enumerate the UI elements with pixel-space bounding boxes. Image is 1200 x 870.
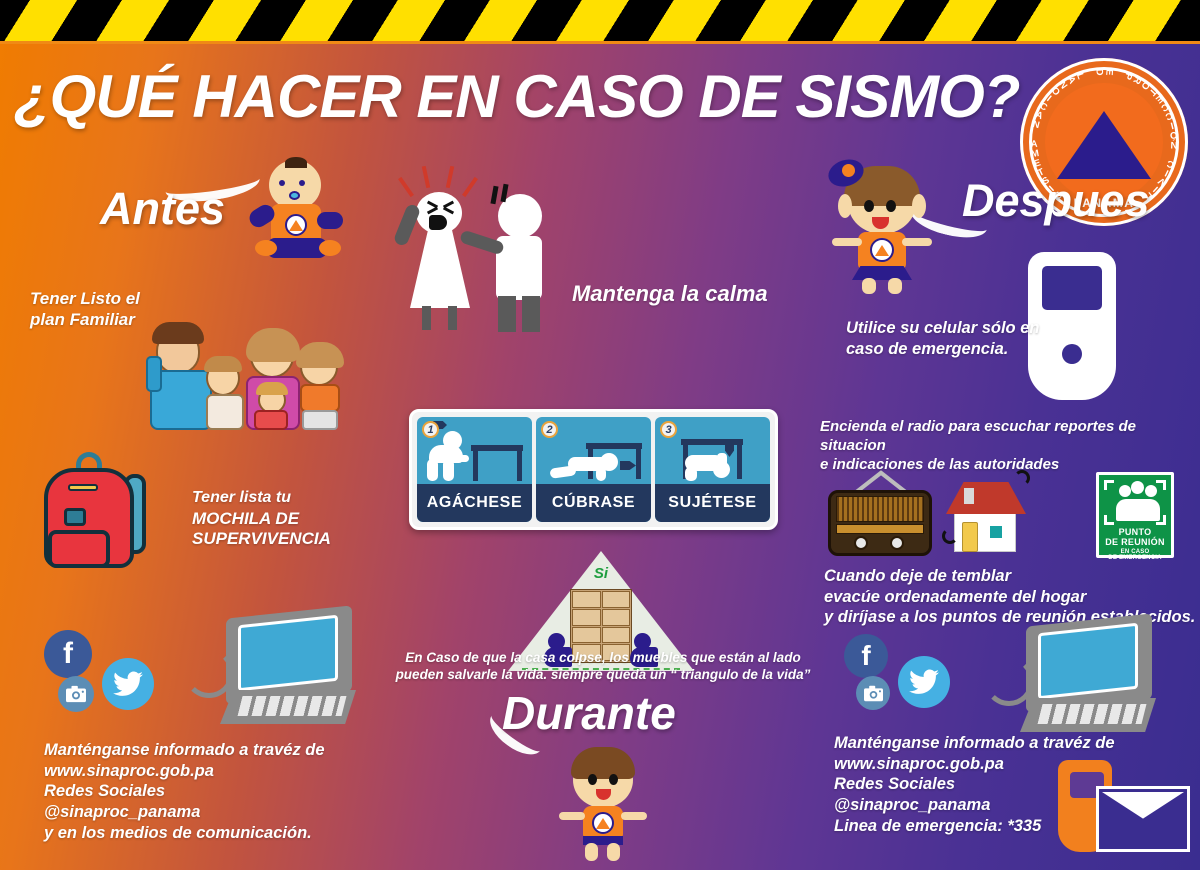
sujetese-person-leg bbox=[685, 467, 697, 481]
backpack-label-line2: MOCHILA DE bbox=[192, 508, 299, 529]
instagram-camera-glyph-right bbox=[864, 685, 883, 702]
survival-backpack-icon bbox=[38, 452, 160, 570]
panic-ray-4 bbox=[462, 177, 478, 197]
calm-man-exclaim-1 bbox=[490, 186, 498, 205]
step-cell-cubrase: 2 CÚBRASE bbox=[536, 417, 651, 522]
cubrase-table-top bbox=[586, 443, 642, 449]
computer-icon-right bbox=[978, 620, 1156, 738]
computer-keys-left bbox=[238, 696, 347, 716]
backpack-zipper bbox=[68, 484, 98, 491]
family-girl-shirt bbox=[300, 384, 340, 412]
infographic-poster: ¿QUÉ HACER EN CASO DE SISMO? SISTEMA NAC… bbox=[0, 0, 1200, 870]
family-toddler-hair bbox=[256, 382, 288, 395]
twitter-icon-right[interactable] bbox=[898, 656, 950, 708]
computer-screen-right bbox=[1038, 623, 1138, 700]
boy-eye-left bbox=[588, 774, 597, 785]
computer-screen-left bbox=[238, 615, 338, 692]
computer-cable-left bbox=[184, 648, 234, 698]
sign-person-head-3 bbox=[1145, 485, 1157, 497]
social-block-right: Manténganse informado a travéz de www.si… bbox=[834, 733, 1115, 836]
boy-leg-right bbox=[607, 843, 620, 861]
instagram-camera-glyph bbox=[66, 685, 86, 703]
baby-eye-left bbox=[279, 180, 285, 186]
family-plan-note: Tener Listo el plan Familiar bbox=[30, 288, 140, 331]
social-block-left: Manténganse informado a travéz de www.si… bbox=[44, 740, 325, 843]
meeting-point-sign: PUNTO DE REUNIÓN EN CASO DE EMERGENCIA bbox=[1096, 472, 1174, 558]
boy-hair bbox=[571, 747, 635, 779]
sign-person-head-1 bbox=[1119, 485, 1131, 497]
computer-keys-right bbox=[1038, 704, 1147, 724]
step-cell-agachese: 1 AGÁCHESE bbox=[417, 417, 532, 522]
girl-ear-right bbox=[912, 194, 926, 218]
house-icon bbox=[940, 470, 1036, 558]
step-cell-sujetese: 3 SUJÉTESE bbox=[655, 417, 770, 522]
house-signal-wave-top bbox=[1014, 470, 1030, 486]
sign-text-block: PUNTO DE REUNIÓN EN CASO DE EMERGENCIA bbox=[1099, 527, 1171, 561]
sign-line-4: DE EMERGENCIA bbox=[1099, 555, 1171, 561]
calm-man-leg-right bbox=[522, 296, 540, 332]
girl-leg-left bbox=[862, 278, 876, 294]
agachese-person-leg-right bbox=[443, 459, 454, 481]
facebook-glyph-right: f bbox=[861, 640, 870, 672]
radio-note: Encienda el radio para escuchar reportes… bbox=[820, 418, 1200, 474]
girl-leg-right bbox=[888, 278, 902, 294]
sujetese-table-leg-right bbox=[737, 445, 742, 479]
agachese-person-leg-left bbox=[427, 459, 438, 481]
calm-man-leg-left bbox=[498, 296, 516, 332]
family-toddler-shirt bbox=[254, 410, 288, 430]
cubrase-table-leg-right bbox=[636, 449, 641, 479]
backpack-buckle bbox=[64, 508, 86, 526]
sign-people-bodies bbox=[1116, 499, 1160, 521]
baby-eye-right bbox=[299, 180, 305, 186]
twitter-bird-glyph-right bbox=[909, 669, 939, 695]
step-number-3: 3 bbox=[660, 421, 677, 438]
instagram-icon-right[interactable] bbox=[856, 676, 890, 710]
computer-cable-right bbox=[984, 656, 1034, 706]
cellphone-keypad-button bbox=[1062, 344, 1082, 364]
sign-corner-arrow-bl bbox=[1104, 515, 1114, 525]
section-heading-durante: Durante bbox=[502, 686, 676, 740]
calm-man-reassuring-arm bbox=[459, 230, 505, 256]
panic-woman-arm bbox=[393, 203, 422, 247]
girl-bow-center bbox=[842, 164, 855, 177]
backpack-front-pocket bbox=[48, 530, 110, 568]
panic-ray-1 bbox=[398, 177, 414, 197]
cellphone-note: Utilice su celular sólo en caso de emerg… bbox=[846, 318, 1039, 359]
baby-pacifier-icon bbox=[289, 191, 300, 200]
family-girl-pants bbox=[302, 410, 338, 430]
girl-skirt bbox=[852, 266, 912, 280]
sign-line-1: PUNTO bbox=[1099, 527, 1171, 537]
house-window bbox=[988, 524, 1004, 540]
keep-calm-figures bbox=[400, 168, 570, 328]
radio-tuning-dial bbox=[836, 524, 924, 534]
keep-calm-note: Mantenga la calma bbox=[572, 280, 768, 308]
cubrase-arrow-icon bbox=[620, 461, 636, 470]
step-number-1: 1 bbox=[422, 421, 439, 438]
sujetese-person-arm bbox=[717, 453, 727, 469]
house-signal-wave-bottom bbox=[942, 528, 958, 544]
girl-ear-left bbox=[838, 194, 852, 218]
radio-speaker-grille bbox=[836, 496, 924, 522]
agachese-table-leg-right bbox=[517, 451, 522, 481]
house-door bbox=[962, 522, 978, 552]
baby-hair-curl bbox=[285, 157, 307, 168]
house-roof bbox=[946, 482, 1026, 514]
girl-mascot bbox=[822, 160, 944, 295]
sign-person-head-2 bbox=[1131, 481, 1144, 494]
baby-shirt-emblem-icon bbox=[285, 214, 307, 236]
sign-corner-arrow-tr bbox=[1156, 480, 1166, 490]
agachese-table-top bbox=[471, 445, 523, 451]
girl-arm-left bbox=[832, 238, 862, 246]
baby-arm-right bbox=[317, 212, 343, 229]
section-heading-despues: Despues bbox=[962, 175, 1150, 227]
girl-eye-left bbox=[864, 200, 874, 212]
hazard-stripe-bar bbox=[0, 0, 1200, 44]
baby-foot-left bbox=[255, 240, 277, 256]
baby-mascot bbox=[243, 160, 348, 260]
baby-foot-right bbox=[319, 240, 341, 256]
cubrase-person-legs bbox=[549, 465, 576, 479]
backpack-label-line1: Tener lista tu bbox=[192, 488, 291, 508]
family-boy-shirt bbox=[206, 394, 244, 430]
backpack-label-line3: SUPERVIVENCIA bbox=[192, 528, 331, 549]
sign-line-2: DE REUNIÓN bbox=[1099, 537, 1171, 547]
panic-ray-2 bbox=[422, 166, 430, 188]
radio-icon bbox=[828, 468, 932, 556]
panic-ray-3 bbox=[446, 166, 454, 188]
girl-eye-right bbox=[886, 200, 896, 212]
family-dad-hair bbox=[152, 322, 204, 344]
section-heading-antes: Antes bbox=[100, 183, 225, 235]
boy-shirt-emblem-icon bbox=[592, 812, 614, 834]
cubrase-person-arm bbox=[596, 467, 606, 481]
step-label-agachese: AGÁCHESE bbox=[417, 484, 532, 522]
boy-mascot bbox=[551, 748, 655, 858]
twitter-bird-glyph bbox=[113, 671, 143, 697]
drop-cover-hold-panel: 1 AGÁCHESE 2 bbox=[409, 409, 778, 530]
family-boy-hair bbox=[204, 356, 242, 372]
boy-leg-left bbox=[585, 843, 598, 861]
triangle-si-badge: Si bbox=[508, 565, 694, 582]
girl-arm-right bbox=[902, 238, 932, 246]
boy-eye-right bbox=[609, 774, 618, 785]
family-mom-hair bbox=[246, 328, 300, 362]
panic-woman-leg-left bbox=[422, 306, 431, 330]
radio-knob-right bbox=[890, 536, 904, 550]
house-chimney bbox=[964, 488, 974, 504]
family-illustration bbox=[150, 320, 365, 430]
sign-corner-arrow-tl bbox=[1104, 480, 1114, 490]
cellphone-icon bbox=[1028, 252, 1116, 400]
computer-icon-left bbox=[178, 612, 356, 730]
girl-shirt-emblem-icon bbox=[870, 238, 894, 262]
panic-woman-leg-right bbox=[448, 306, 457, 330]
radio-knob-left bbox=[854, 536, 868, 550]
family-dad-phone-arm bbox=[146, 356, 162, 392]
facebook-icon-left[interactable]: f bbox=[44, 630, 92, 678]
facebook-glyph: f bbox=[63, 637, 73, 671]
instagram-icon-left[interactable] bbox=[58, 676, 94, 712]
family-girl-hair bbox=[296, 342, 344, 368]
twitter-icon-left[interactable] bbox=[102, 658, 154, 710]
boy-arm-right bbox=[621, 812, 647, 820]
step-number-2: 2 bbox=[541, 421, 558, 438]
cellphone-screen bbox=[1042, 266, 1102, 310]
step-label-cubrase: CÚBRASE bbox=[536, 484, 651, 522]
step-label-sujetese: SUJÉTESE bbox=[655, 484, 770, 522]
triangle-of-life-caption: En Caso de que la casa colpse, los muebl… bbox=[388, 650, 818, 684]
page-title: ¿QUÉ HACER EN CASO DE SISMO? bbox=[14, 62, 1019, 131]
agachese-table-leg-left bbox=[473, 451, 478, 481]
agachese-person-arm bbox=[453, 455, 469, 462]
panic-woman-open-mouth bbox=[429, 215, 447, 230]
boy-arm-left bbox=[559, 812, 585, 820]
facebook-icon-right[interactable]: f bbox=[844, 634, 888, 678]
